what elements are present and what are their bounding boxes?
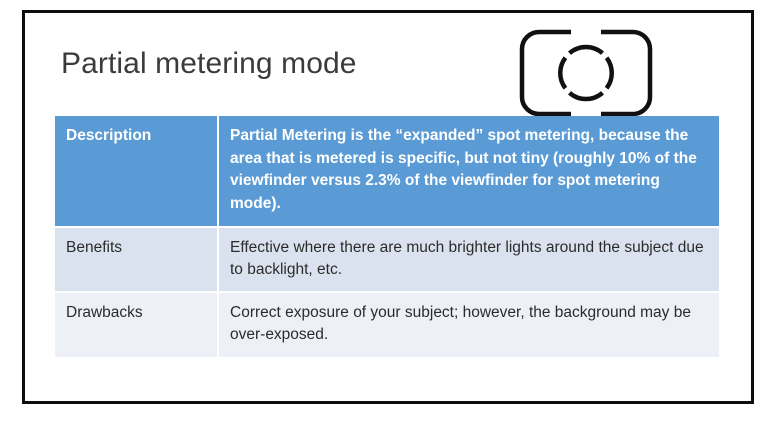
row-value-benefits: Effective where there are much brighter …: [219, 228, 719, 294]
table-row: Benefits Effective where there are much …: [55, 228, 719, 294]
row-value-description: Partial Metering is the “expanded” spot …: [219, 116, 719, 228]
row-label-drawbacks: Drawbacks: [55, 293, 219, 357]
row-value-drawbacks: Correct exposure of your subject; howeve…: [219, 293, 719, 357]
page-title: Partial metering mode: [61, 49, 357, 79]
table-row: Description Partial Metering is the “exp…: [55, 116, 719, 228]
slide-body: Partial metering mode Description: [25, 13, 751, 401]
slide-frame: Partial metering mode Description: [22, 10, 754, 404]
row-label-benefits: Benefits: [55, 228, 219, 294]
table-row: Drawbacks Correct exposure of your subje…: [55, 293, 719, 357]
metering-info-table: Description Partial Metering is the “exp…: [55, 116, 719, 357]
partial-metering-icon: [517, 27, 655, 119]
row-label-description: Description: [55, 116, 219, 228]
